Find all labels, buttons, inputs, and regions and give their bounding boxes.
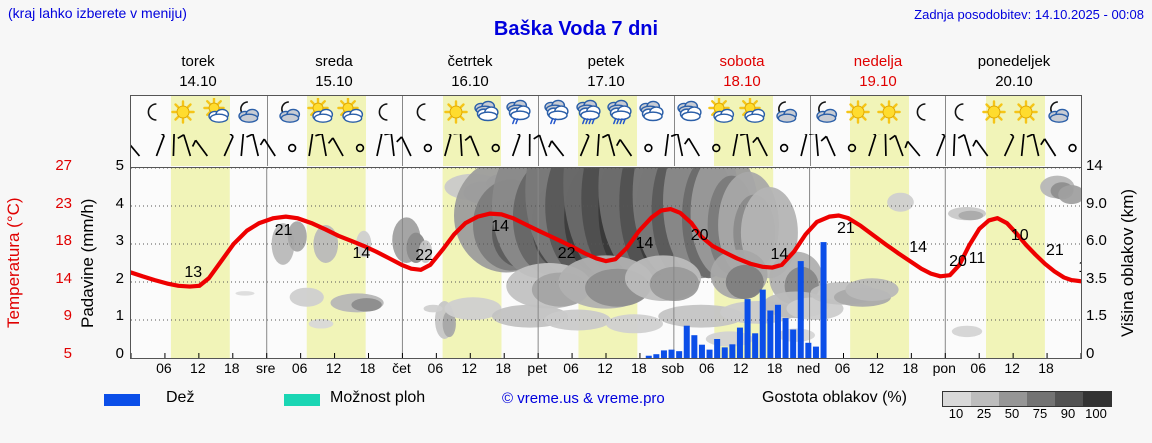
time-tick-label: čet: [392, 360, 411, 376]
time-tick-label: 12: [461, 360, 477, 376]
cloud-tick: 1.5: [1086, 307, 1118, 324]
moon-cloud-icon: [232, 98, 262, 128]
precip-tick: 3: [104, 232, 124, 249]
day-name: sreda: [266, 52, 402, 72]
time-tick-label: 06: [563, 360, 579, 376]
temperature-value-label: 14: [491, 218, 509, 236]
day-separator: [538, 96, 539, 166]
sun-cloud-icon: [707, 98, 737, 128]
day-date: 15.10: [266, 72, 402, 92]
temperature-value-label: 14: [636, 235, 654, 253]
day-date: 16.10: [402, 72, 538, 92]
temperature-value-label: 20: [949, 253, 967, 271]
cloud-rain-icon: [574, 98, 604, 128]
time-tick-label: sre: [256, 360, 275, 376]
time-tick-label: 06: [156, 360, 172, 376]
cloud-icon: [675, 98, 705, 128]
temp-tick: 27: [38, 157, 72, 174]
cloud-density-tick: 100: [1082, 406, 1110, 421]
precip-tick: 4: [104, 195, 124, 212]
day-name: četrtek: [402, 52, 538, 72]
day-date: 14.10: [130, 72, 266, 92]
cloud-rain-light-icon: [542, 98, 572, 128]
moon-cloud-icon: [810, 98, 840, 128]
showers-legend-swatch: [284, 394, 320, 406]
cloud-density-tick: 75: [1026, 406, 1054, 421]
moon-icon: [368, 98, 398, 128]
sun-icon: [168, 98, 198, 128]
time-tick-label: 12: [869, 360, 885, 376]
moon-icon: [406, 98, 436, 128]
cloud-density-tick: 25: [970, 406, 998, 421]
day-date: 20.10: [946, 72, 1082, 92]
cloud-density-tick: 90: [1054, 406, 1082, 421]
temp-tick: 14: [38, 270, 72, 287]
cloud-density-ramp-step: [999, 392, 1027, 406]
temperature-value-label: 22: [415, 247, 433, 265]
day-column-sreda: sreda15.10: [266, 52, 402, 94]
moon-icon: [944, 98, 974, 128]
forecast-chart: 13211422142214201421142011102112: [130, 167, 1082, 359]
cloud-density-ramp-step: [1027, 392, 1055, 406]
temperature-value-label: 22: [558, 245, 576, 263]
moon-icon: [137, 98, 167, 128]
moon-icon: [906, 98, 936, 128]
cloud-height-axis-title: Višina oblakov (km): [1118, 168, 1138, 358]
day-name: nedelja: [810, 52, 946, 72]
daylight-shade: [307, 168, 366, 358]
temp-tick: 23: [38, 195, 72, 212]
day-column-petek: petek17.10: [538, 52, 674, 94]
day-name: petek: [538, 52, 674, 72]
time-tick-label: 18: [903, 360, 919, 376]
day-name: ponedeljek: [946, 52, 1082, 72]
temperature-value-label: 14: [909, 239, 927, 257]
cloud-icon: [472, 98, 502, 128]
rain-legend-label: Dež: [166, 389, 194, 407]
sun-cloud-icon: [336, 98, 366, 128]
temperature-value-label: 10: [1011, 227, 1029, 245]
temp-tick: 18: [38, 232, 72, 249]
moon-cloud-icon: [770, 98, 800, 128]
cloud-tick: 0: [1086, 345, 1118, 362]
time-tick-label: pon: [933, 360, 956, 376]
sun-cloud-icon: [306, 98, 336, 128]
temperature-value-label: 21: [275, 222, 293, 240]
day-column-sobota: sobota18.10: [674, 52, 810, 94]
cloud-tick: 9.0: [1086, 195, 1118, 212]
cloud-rain-icon: [605, 98, 635, 128]
time-tick-label: 18: [224, 360, 240, 376]
cloud-tick: 3.5: [1086, 270, 1118, 287]
moon-cloud-icon: [1042, 98, 1072, 128]
day-name: sobota: [674, 52, 810, 72]
time-tick-label: 06: [970, 360, 986, 376]
rain-legend-swatch: [104, 394, 140, 406]
day-date: 18.10: [674, 72, 810, 92]
cloud-density-legend-label: Gostota oblakov (%): [762, 389, 907, 407]
temperature-value-label: 12: [1078, 259, 1082, 277]
time-tick-label: 06: [699, 360, 715, 376]
precip-tick: 5: [104, 157, 124, 174]
temperature-value-label: 11: [969, 250, 986, 268]
time-axis-labels: 061218sre061218čet061218pet061218sob0612…: [130, 360, 1082, 380]
day-separator: [402, 96, 403, 166]
cloud-rain-light-icon: [504, 98, 534, 128]
time-tick-label: 12: [733, 360, 749, 376]
precip-tick: 2: [104, 270, 124, 287]
day-name: torek: [130, 52, 266, 72]
time-tick-label: 12: [190, 360, 206, 376]
cloud-tick: 6.0: [1086, 232, 1118, 249]
temp-tick: 5: [38, 345, 72, 362]
last-update-text: Zadnja posodobitev: 14.10.2025 - 00:08: [914, 7, 1144, 22]
day-column-četrtek: četrtek16.10: [402, 52, 538, 94]
weather-symbol-band: [130, 95, 1082, 167]
temperature-axis-title: Temperatura (°C): [4, 168, 24, 358]
copyright-link[interactable]: © vreme.us & vreme.pro: [502, 390, 665, 407]
cloud-density-tick: 50: [998, 406, 1026, 421]
temperature-value-label: 13: [184, 264, 202, 282]
time-tick-label: ned: [797, 360, 820, 376]
temp-tick: 9: [38, 307, 72, 324]
chart-legend: Dež Možnost ploh © vreme.us & vreme.pro …: [0, 385, 1152, 425]
cloud-icon: [637, 98, 667, 128]
sun-cloud-icon: [202, 98, 232, 128]
temperature-value-label: 20: [691, 227, 709, 245]
precip-tick: 0: [104, 345, 124, 362]
day-date: 19.10: [810, 72, 946, 92]
sun-icon: [441, 98, 471, 128]
day-column-ponedeljek: ponedeljek20.10: [946, 52, 1082, 94]
sun-icon: [979, 98, 1009, 128]
cloud-density-ramp-ticks: 1025507590100: [942, 406, 1117, 421]
sun-icon: [843, 98, 873, 128]
temperature-value-label: 14: [770, 246, 788, 264]
day-header-row: torek14.10sreda15.10četrtek16.10petek17.…: [130, 52, 1082, 94]
sun-icon: [1011, 98, 1041, 128]
cloud-density-ramp-step: [1055, 392, 1083, 406]
daylight-shade: [986, 168, 1045, 358]
time-tick-label: 06: [428, 360, 444, 376]
time-tick-label: 06: [292, 360, 308, 376]
day-date: 17.10: [538, 72, 674, 92]
cloud-density-ramp-step: [1083, 392, 1111, 406]
moon-cloud-icon: [273, 98, 303, 128]
time-tick-label: 18: [767, 360, 783, 376]
time-tick-label: sob: [662, 360, 685, 376]
temperature-value-label: 21: [1046, 242, 1064, 260]
temperature-value-label: 14: [352, 245, 370, 263]
cloud-density-tick: 10: [942, 406, 970, 421]
time-tick-label: 18: [1038, 360, 1054, 376]
time-tick-label: 12: [1004, 360, 1020, 376]
day-separator: [267, 96, 268, 166]
cloud-density-ramp-step: [971, 392, 999, 406]
time-tick-label: 06: [835, 360, 851, 376]
precipitation-axis-title: Padavine (mm/h): [78, 168, 98, 358]
temperature-value-label: 21: [837, 220, 855, 238]
time-tick-label: 18: [631, 360, 647, 376]
cloud-density-color-ramp: [942, 391, 1112, 407]
sun-icon: [874, 98, 904, 128]
precip-tick: 1: [104, 307, 124, 324]
time-tick-label: 18: [495, 360, 511, 376]
time-tick-label: 18: [360, 360, 376, 376]
sun-cloud-icon: [738, 98, 768, 128]
time-tick-label: 12: [326, 360, 342, 376]
cloud-density-ramp-step: [943, 392, 971, 406]
showers-legend-label: Možnost ploh: [330, 389, 425, 407]
day-column-torek: torek14.10: [130, 52, 266, 94]
time-tick-label: pet: [527, 360, 546, 376]
day-column-nedelja: nedelja19.10: [810, 52, 946, 94]
time-tick-label: 12: [597, 360, 613, 376]
cloud-tick: 14: [1086, 157, 1118, 174]
